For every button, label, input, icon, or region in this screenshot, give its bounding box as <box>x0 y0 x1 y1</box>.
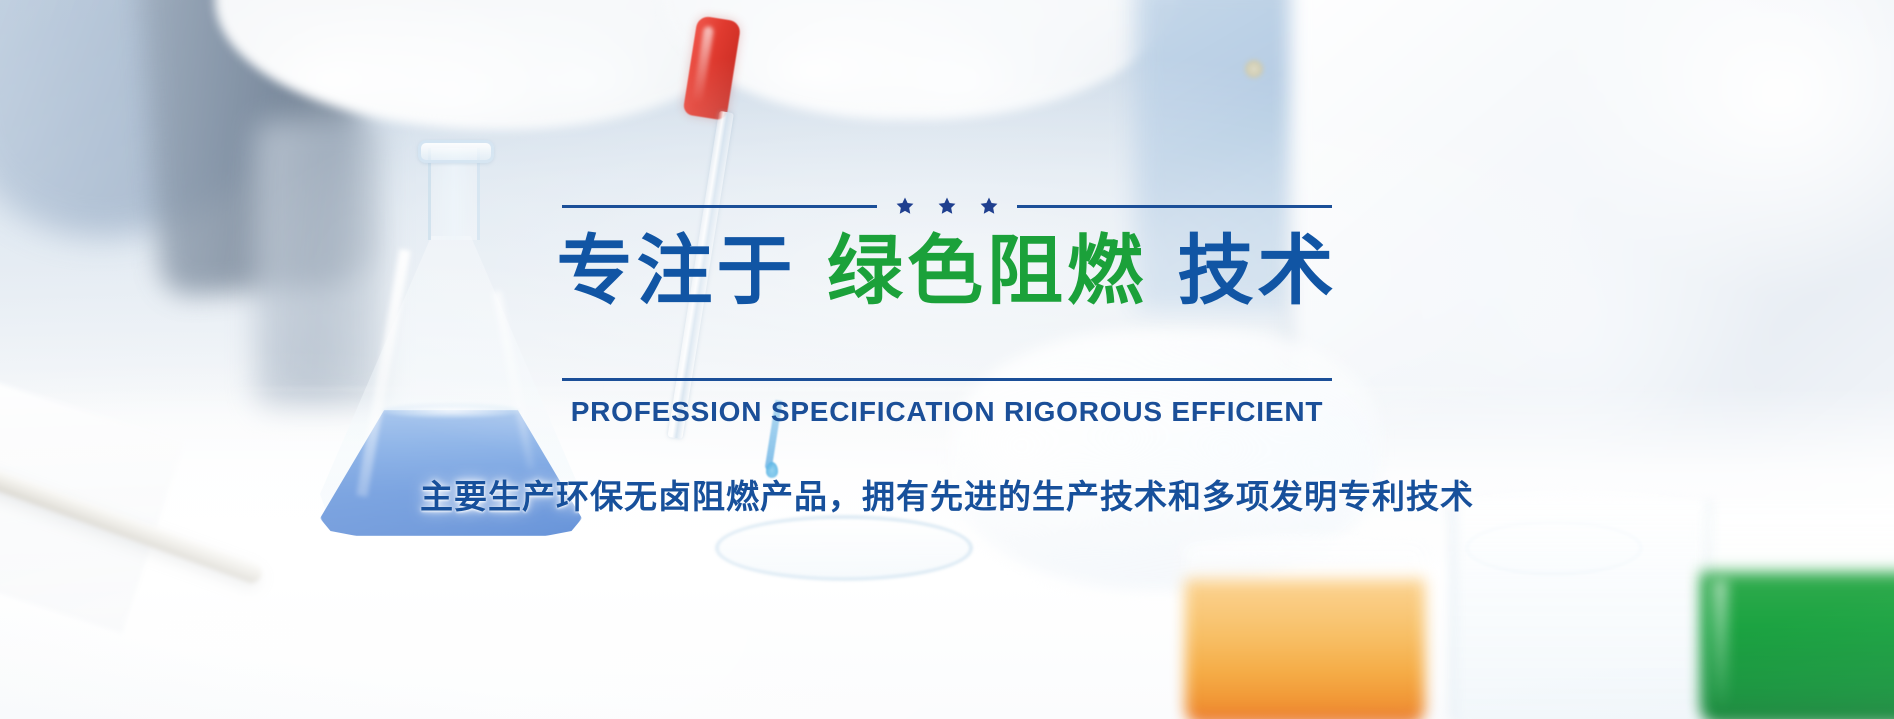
page-title: 专注于 绿色阻燃 技术 <box>557 233 1338 309</box>
title-part-1: 专注于 <box>557 226 797 315</box>
banner-content: 专注于 绿色阻燃 技术 PROFESSION SPECIFICATION RIG… <box>0 0 1894 719</box>
tagline: 主要生产环保无卤阻燃产品，拥有先进的生产技术和多项发明专利技术 <box>420 470 1474 518</box>
title-underline <box>562 378 1332 381</box>
star-icon <box>979 196 999 216</box>
rule-right <box>1017 205 1332 208</box>
hero-banner: 专注于 绿色阻燃 技术 PROFESSION SPECIFICATION RIG… <box>0 0 1894 719</box>
title-part-2: 绿色阻燃 <box>827 226 1147 315</box>
subtitle: PROFESSION SPECIFICATION RIGOROUS EFFICI… <box>571 396 1324 428</box>
star-group <box>877 196 1017 216</box>
star-icon <box>895 196 915 216</box>
title-part-3: 技术 <box>1177 226 1337 315</box>
rule-left <box>562 205 877 208</box>
star-icon <box>937 196 957 216</box>
top-rule-with-stars <box>562 196 1332 216</box>
